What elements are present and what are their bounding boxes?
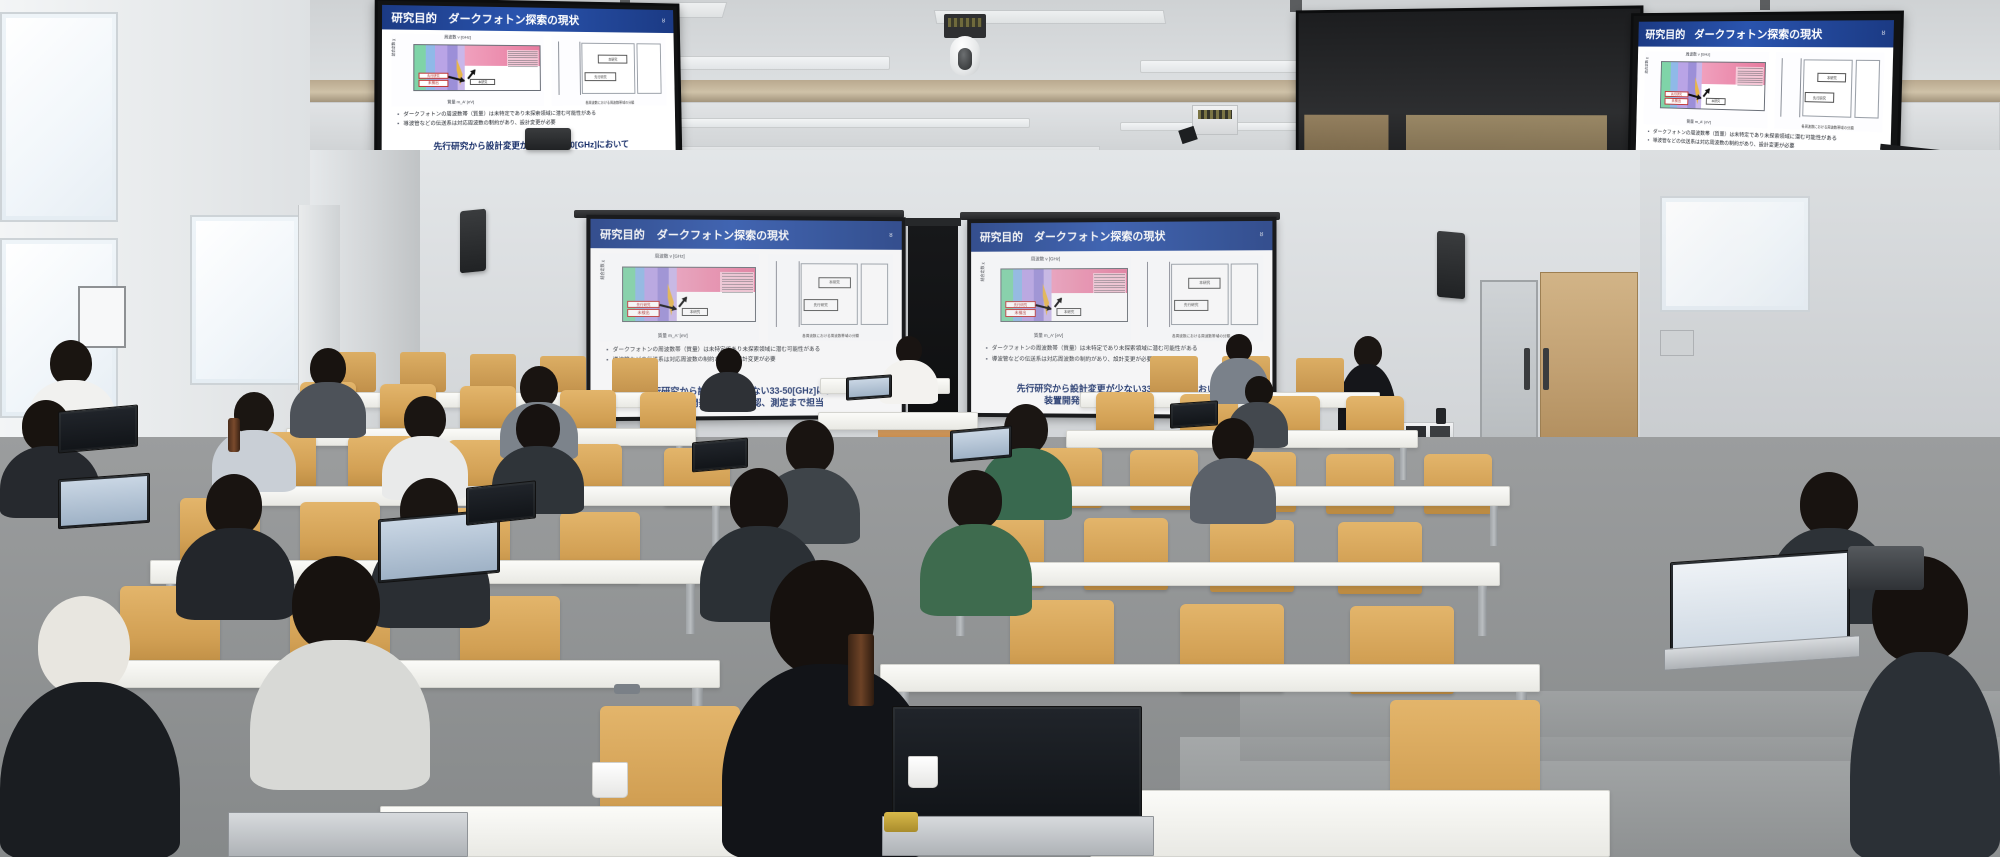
tag-this-work: 本研究 [682, 308, 708, 316]
slide-figures: 周波数 ν [GHz] 結合定数 χ 先行研究 未検出 [600, 254, 893, 342]
desk-leg [686, 584, 695, 634]
figure-caption: 各周波数における周波数帯域の分類 [1774, 122, 1883, 131]
slide-title-label: 研究目的 [391, 9, 437, 26]
figure-band-table: 本研究 先行研究 各周波数における周波数帯域の分類 [551, 36, 666, 107]
slide-figures: 周波数 ν [GHz] 結合定数 χ 先行研究 未検出 [1643, 51, 1884, 133]
desk-leg [1400, 448, 1407, 480]
audience-person [700, 348, 756, 406]
laptop[interactable] [846, 376, 892, 402]
drink-bottle[interactable] [228, 418, 240, 452]
person-head [206, 474, 262, 536]
niche-rail [905, 218, 961, 226]
wall-speaker-left [460, 209, 486, 274]
laptop[interactable] [466, 484, 536, 526]
audience-person [1190, 418, 1276, 520]
wall-speaker-right [1437, 231, 1465, 299]
plot-area: 先行研究 未検出 本研究 [1001, 268, 1128, 322]
plot-x-axis-label: 質量 m_A' [eV] [658, 333, 688, 339]
tag-prior-work: 先行研究 [803, 299, 838, 310]
desk-leg [1478, 586, 1487, 636]
mouse[interactable] [614, 684, 640, 694]
tag-prior-work: 先行研究 [584, 72, 616, 81]
table-block [1231, 264, 1258, 326]
table-rule [776, 261, 777, 327]
slide-page-number: 8 [889, 233, 892, 239]
table-block [636, 44, 661, 94]
slide-figures: 周波数 ν [GHz] 結合定数 χ 先行研究 未検出 [391, 34, 666, 107]
window-left-upper [0, 12, 118, 222]
audience-person [1850, 556, 2000, 857]
tag-prior-study: 先行研究 [1006, 301, 1036, 308]
laptop[interactable] [692, 440, 748, 474]
tag-prior-work: 先行研究 [1804, 92, 1834, 103]
plot-y-axis-label: 結合定数 χ [600, 260, 606, 279]
annotation-arrow [1053, 298, 1061, 308]
tag-prior-work: 先行研究 [1174, 300, 1209, 311]
tag-this-work: 本研究 [1057, 308, 1082, 315]
backpack[interactable] [1848, 546, 1924, 590]
table-rule [558, 41, 560, 95]
annotation-arrow [1703, 89, 1710, 97]
plot-x-axis-label: 質量 m_A' [eV] [1034, 333, 1063, 339]
wall-speaker-upper [525, 128, 571, 150]
figure-band-table: 本研究 先行研究 各周波数における周波数帯域の分類 [768, 254, 893, 340]
tag-this-work: 本研究 [1705, 98, 1726, 105]
figure-exclusion-plot: 周波数 ν [GHz] 結合定数 χ 先行研究 未検出 [391, 34, 544, 107]
figure-exclusion-plot: 周波数 ν [GHz] 結合定数 χ 先行研究 未検出 [600, 254, 759, 342]
tag-undetected: 未検出 [628, 309, 660, 317]
table-rule [798, 262, 799, 328]
tag-undetected: 未検出 [418, 80, 449, 87]
slide-figures: 周波数 ν [GHz] 結合定数 χ 先行研究 未検出 [980, 255, 1263, 341]
podium-lamp [1436, 408, 1446, 424]
table-block [582, 43, 635, 93]
excl-band [1034, 269, 1044, 321]
tag-undetected: 未検出 [1006, 309, 1036, 317]
slide-title-label: 研究目的 [980, 229, 1023, 245]
figure-exclusion-plot: 周波数 ν [GHz] 結合定数 χ 先行研究 未検出 [980, 256, 1131, 341]
person-head-cap [38, 596, 130, 696]
laptop[interactable] [58, 408, 138, 454]
slide-title-topic: ダークフォトン探索の現状 [1694, 26, 1822, 42]
tag-prior-study: 先行研究 [418, 73, 449, 79]
table-rule [1169, 262, 1170, 327]
person-body [1190, 458, 1276, 524]
table-block [860, 264, 887, 326]
excl-band [658, 267, 669, 321]
laptop-lid [692, 438, 748, 473]
window-stage-right [1660, 196, 1810, 312]
laptop[interactable] [1670, 556, 1850, 660]
tag-this-work: 本研究 [818, 277, 850, 288]
annotation-arrow [679, 297, 687, 307]
tag-prior-study: 先行研究 [628, 300, 660, 308]
figure-band-table: 本研究 先行研究 各周波数における周波数帯域の分類 [1774, 52, 1885, 133]
plot-area: 先行研究 未検出 本研究 [1660, 61, 1766, 111]
figure-caption: 各周波数における周波数帯域の分類 [768, 334, 893, 339]
tag-prior-study: 先行研究 [1664, 91, 1688, 98]
slide-page-number: 8 [662, 19, 665, 25]
table-block [801, 263, 858, 325]
tag-this-work: 本研究 [598, 54, 628, 63]
drink-bottle[interactable] [848, 634, 874, 706]
laptop[interactable] [58, 476, 150, 530]
person-head [730, 468, 788, 534]
door-handle[interactable] [1524, 348, 1530, 390]
desk-item[interactable] [884, 812, 918, 832]
laptop[interactable] [228, 812, 468, 857]
paper-cup[interactable] [592, 762, 628, 798]
person-body [700, 372, 756, 412]
slide-title-bar: 研究目的 ダークフォトン探索の現状 8 [1638, 20, 1894, 47]
person-body [920, 524, 1032, 616]
slide-title-bar: 研究目的 ダークフォトン探索の現状 8 [971, 221, 1272, 252]
table-block [1854, 60, 1880, 118]
table-block [1171, 264, 1228, 326]
slide-title-bar: 研究目的 ダークフォトン探索の現状 8 [590, 219, 901, 250]
laptop-lid [846, 374, 892, 400]
plot-top-axis-label: 周波数 ν [GHz] [655, 254, 685, 260]
door-handle[interactable] [1543, 348, 1549, 390]
excl-band [447, 46, 457, 90]
desk [880, 664, 1540, 692]
list-item: ダークフォトンの周波数帯（質量）は未特定であり未探索領域に潜む可能性がある [397, 110, 661, 119]
laptop-lid [58, 405, 138, 454]
slide-title-topic: ダークフォトン探索の現状 [657, 226, 789, 243]
person-head [1800, 472, 1858, 536]
figure-exclusion-plot: 周波数 ν [GHz] 結合定数 χ 先行研究 未検出 [1643, 51, 1768, 129]
audience-person [0, 596, 180, 857]
tag-this-work: 本研究 [470, 79, 495, 85]
lecture-hall-photo: 研究目的 ダークフォトン探索の現状 8 周波数 ν [GHz] 結合定数 χ [0, 0, 2000, 857]
slide-title-label: 研究目的 [600, 226, 645, 242]
ceiling-device-grill [1198, 110, 1232, 119]
window-left-side [190, 215, 300, 385]
wall-poster [78, 286, 126, 348]
slide-title-topic: ダークフォトン探索の現状 [1034, 228, 1165, 245]
laptop-lid [466, 480, 536, 525]
plot-y-axis-label: 結合定数 χ [980, 263, 986, 282]
wall-switch-panel[interactable] [1660, 330, 1694, 356]
dome-camera-icon [950, 36, 980, 76]
tag-this-work: 本研究 [1189, 277, 1221, 288]
person-head [516, 404, 560, 452]
table-rule [579, 42, 581, 95]
person-body [1850, 652, 2000, 857]
figure-caption: 各周波数における周波数帯域の分類 [552, 100, 667, 105]
slide-page-number: 8 [1260, 232, 1263, 238]
plot-area: 先行研究 未検出 本研究 [413, 44, 541, 91]
plot-top-axis-label: 周波数 ν [GHz] [1031, 256, 1060, 262]
person-head [292, 556, 380, 652]
table-rule [1147, 262, 1148, 327]
desk [1090, 790, 1610, 857]
slide-title-bar: 研究目的 ダークフォトン探索の現状 8 [382, 5, 673, 33]
audience-person [290, 348, 366, 434]
slide-title-topic: ダークフォトン探索の現状 [448, 10, 579, 28]
audience-person [250, 556, 430, 786]
person-body [250, 640, 430, 790]
paper-cup[interactable] [908, 756, 938, 788]
person-head [948, 470, 1002, 530]
plot-top-axis-label: 周波数 ν [GHz] [444, 34, 471, 40]
figure-band-table: 本研究 先行研究 各周波数における周波数帯域の分類 [1140, 255, 1264, 341]
person-head [786, 420, 834, 474]
laptop[interactable] [950, 428, 1012, 464]
plot-legend [1736, 67, 1764, 97]
plot-area: 先行研究 未検出 本研究 [623, 266, 757, 322]
camera-mount [944, 14, 986, 38]
laptop-lid [1170, 400, 1218, 428]
person-body [290, 382, 366, 438]
laptop-base[interactable] [882, 816, 1154, 856]
table-block [1802, 60, 1853, 118]
audience-person [920, 470, 1032, 610]
tag-undetected: 未検出 [1664, 98, 1688, 105]
door-panel-right[interactable] [1540, 272, 1638, 444]
plot-x-axis-label: 質量 m_A' [eV] [1686, 119, 1711, 126]
laptop-lid [950, 425, 1012, 462]
annotation-arrow [467, 69, 475, 79]
plot-legend [1093, 273, 1126, 305]
laptop[interactable] [1170, 402, 1218, 430]
plot-x-axis-label: 質量 m_A' [eV] [447, 99, 474, 105]
slide-title-label: 研究目的 [1645, 26, 1685, 42]
person-body [0, 682, 180, 857]
laptop-lid [58, 473, 150, 529]
tag-this-work: 本研究 [1818, 72, 1847, 83]
slide-page-number: 8 [1882, 31, 1886, 37]
table-rule [1781, 58, 1783, 117]
plot-legend [507, 50, 539, 77]
plot-y-axis-label: 結合定数 χ [1645, 57, 1650, 73]
monitor-bracket [1760, 0, 1770, 10]
plot-legend [720, 272, 754, 305]
desk-leg [1490, 506, 1498, 546]
plot-top-axis-label: 周波数 ν [GHz] [1686, 51, 1711, 57]
laptop-base[interactable] [228, 812, 468, 857]
plot-y-axis-label: 結合定数 χ [391, 38, 396, 55]
